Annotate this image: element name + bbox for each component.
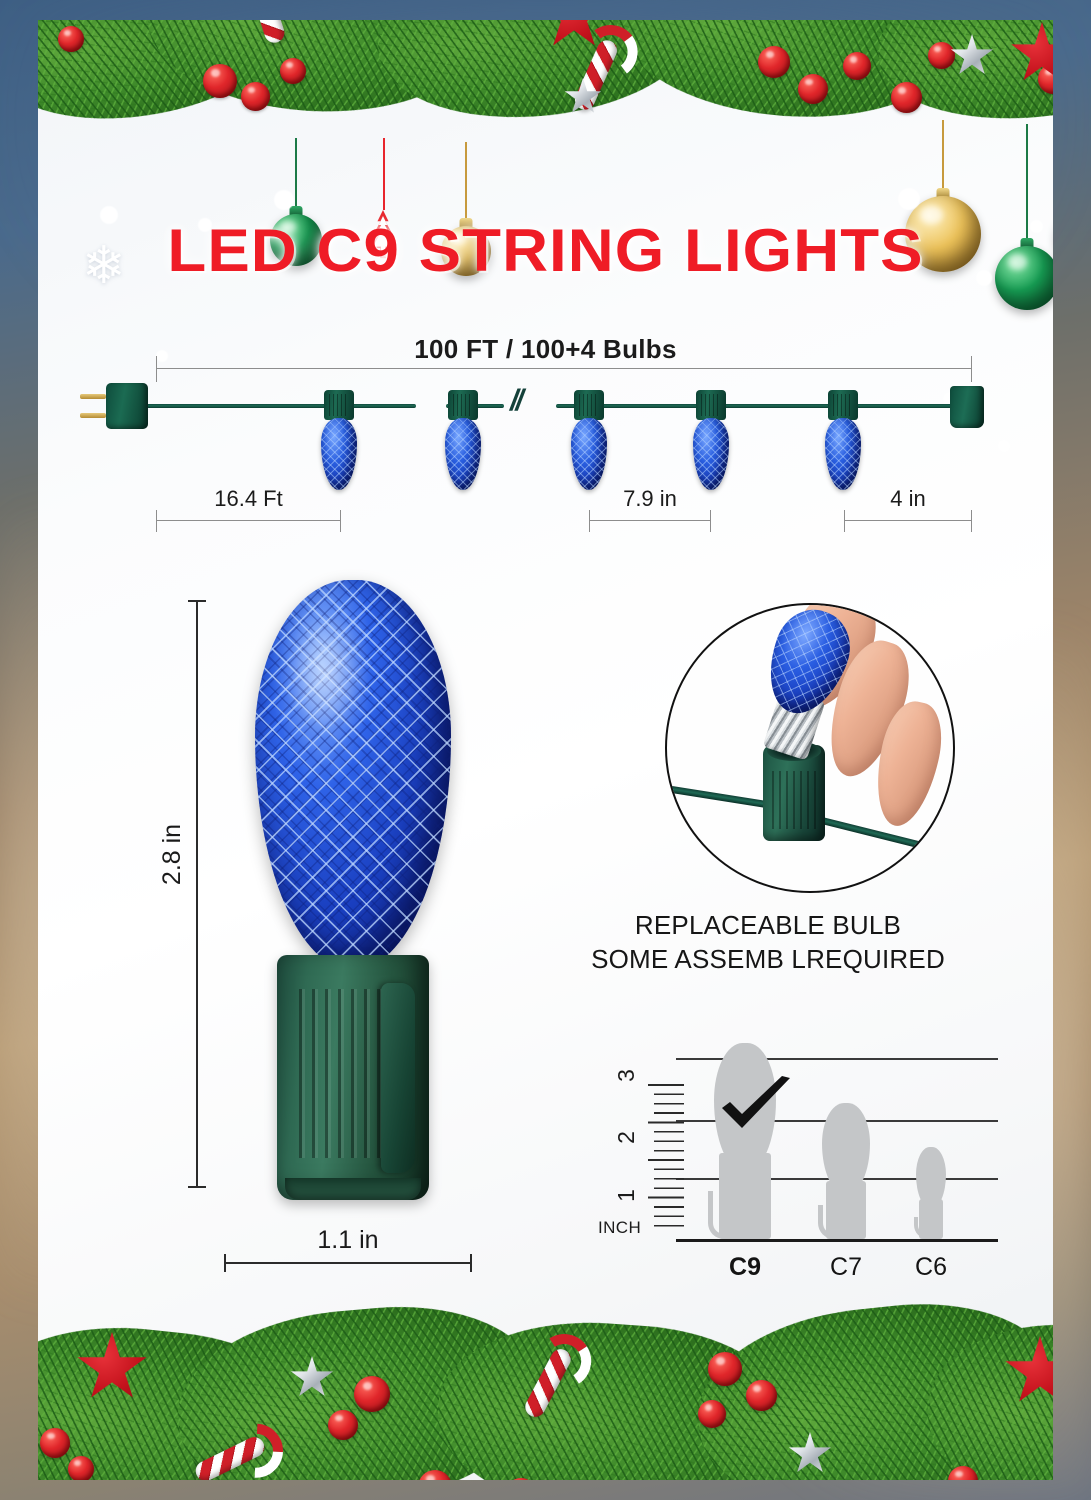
- comparison-label-c9: C9: [690, 1253, 800, 1282]
- comparison-bulb-c6: [916, 1147, 946, 1239]
- tail-tick-left: [844, 510, 845, 532]
- berry-icon: [354, 1376, 390, 1412]
- end-connector-icon: [950, 386, 984, 428]
- lead-tick-right: [340, 510, 341, 532]
- berry-icon: [698, 1400, 726, 1428]
- tail-label: 4 in: [844, 486, 972, 512]
- lead-length-label: 16.4 Ft: [156, 486, 341, 512]
- bulb-size-comparison-chart: 3 2 1 INCH C9 C7: [598, 1040, 998, 1290]
- spacing-span-line: [589, 520, 711, 521]
- lead-span-line: [156, 520, 341, 521]
- inset-wire: [665, 784, 775, 809]
- berry-icon: [758, 46, 790, 78]
- candy-cane-icon: [245, 20, 287, 45]
- span-tick-right: [971, 356, 972, 382]
- replaceable-line-2: SOME ASSEMB LREQUIRED: [508, 942, 1028, 976]
- page-title: LED C9 STRING LIGHTS: [38, 216, 1053, 285]
- berry-icon: [843, 52, 871, 80]
- berry-icon: [891, 82, 922, 113]
- star-silver-icon: [564, 78, 602, 116]
- bulb-on-string: [820, 390, 866, 496]
- snow-dot: [274, 190, 294, 210]
- span-tick-left: [156, 356, 157, 382]
- berry-icon: [708, 1352, 742, 1386]
- star-red-icon: [76, 1332, 148, 1404]
- check-icon: [718, 1076, 794, 1138]
- bulb-width-label: 1.1 in: [224, 1226, 472, 1255]
- bulb-on-string: [688, 390, 734, 496]
- berry-icon: [40, 1428, 70, 1458]
- berry-icon: [746, 1380, 777, 1411]
- wire-segment: [146, 404, 416, 408]
- bulb-on-string: [566, 390, 612, 496]
- berry-icon: [418, 1470, 452, 1480]
- total-span-line: [156, 368, 972, 369]
- star-red-icon: [1010, 22, 1053, 86]
- ruler-label-1: 1: [613, 1189, 640, 1202]
- string-length-diagram: 100 FT / 100+4 Bulbs //: [38, 320, 1053, 550]
- ruler-unit-label: INCH: [598, 1218, 641, 1238]
- bulb-glass: [255, 580, 451, 970]
- bulb-socket-base: [277, 955, 429, 1200]
- snow-dot: [898, 188, 920, 210]
- berry-icon: [58, 26, 84, 52]
- garland-bottom: [38, 1260, 1053, 1480]
- replaceable-bulb-inset: [665, 603, 955, 893]
- bulb-on-string: [316, 390, 362, 496]
- infographic-page: ❄ LED C9 STRING LIGHTS 100 FT / 100+4 Bu…: [0, 0, 1091, 1500]
- ruler-major-ticks: [648, 1084, 684, 1234]
- candy-cane-icon: [522, 1346, 574, 1421]
- candy-cane-icon: [192, 1434, 267, 1480]
- product-panel: ❄ LED C9 STRING LIGHTS 100 FT / 100+4 Bu…: [38, 20, 1053, 1480]
- height-measure-line: [196, 600, 198, 1188]
- ruler-label-2: 2: [613, 1131, 640, 1144]
- comparison-bulb-c9: [714, 1043, 776, 1239]
- berry-icon: [241, 82, 270, 111]
- wire-segment: [556, 404, 956, 408]
- break-symbol: //: [510, 384, 521, 418]
- berry-icon: [506, 1478, 536, 1480]
- ruler-label-3: 3: [613, 1069, 640, 1082]
- berry-icon: [203, 64, 237, 98]
- berry-icon: [948, 1466, 978, 1480]
- width-measure-line: [224, 1262, 472, 1264]
- berry-icon: [280, 58, 306, 84]
- candy-cane-icon: [572, 37, 620, 113]
- star-silver-icon: [290, 1356, 334, 1400]
- lead-tick-left: [156, 510, 157, 532]
- comparison-bulb-c7: [822, 1103, 870, 1239]
- berry-icon: [798, 74, 828, 104]
- star-red-icon: [1004, 1336, 1053, 1408]
- c9-bulb-photo: [243, 580, 463, 1220]
- inset-wire: [819, 817, 955, 865]
- berry-icon: [328, 1410, 358, 1440]
- total-length-label: 100 FT / 100+4 Bulbs: [38, 334, 1053, 365]
- spacing-label: 7.9 in: [589, 486, 711, 512]
- berry-icon: [1038, 64, 1053, 94]
- power-plug-icon: [106, 383, 148, 429]
- chart-baseline: [676, 1239, 998, 1242]
- replaceable-line-1: REPLACEABLE BULB: [508, 908, 1028, 942]
- star-red-icon: [538, 20, 610, 52]
- comparison-label-c6: C6: [876, 1253, 986, 1282]
- star-silver-icon: [788, 1432, 832, 1476]
- berry-icon: [928, 42, 955, 69]
- replaceable-caption: REPLACEABLE BULB SOME ASSEMB LREQUIRED: [508, 908, 1028, 977]
- bulb-on-string: [440, 390, 486, 496]
- bulb-height-label: 2.8 in: [158, 824, 187, 885]
- berry-icon: [68, 1456, 94, 1480]
- spacing-tick-left: [589, 510, 590, 532]
- star-silver-icon: [950, 34, 994, 78]
- spacing-tick-right: [710, 510, 711, 532]
- tail-tick-right: [971, 510, 972, 532]
- tail-span-line: [844, 520, 972, 521]
